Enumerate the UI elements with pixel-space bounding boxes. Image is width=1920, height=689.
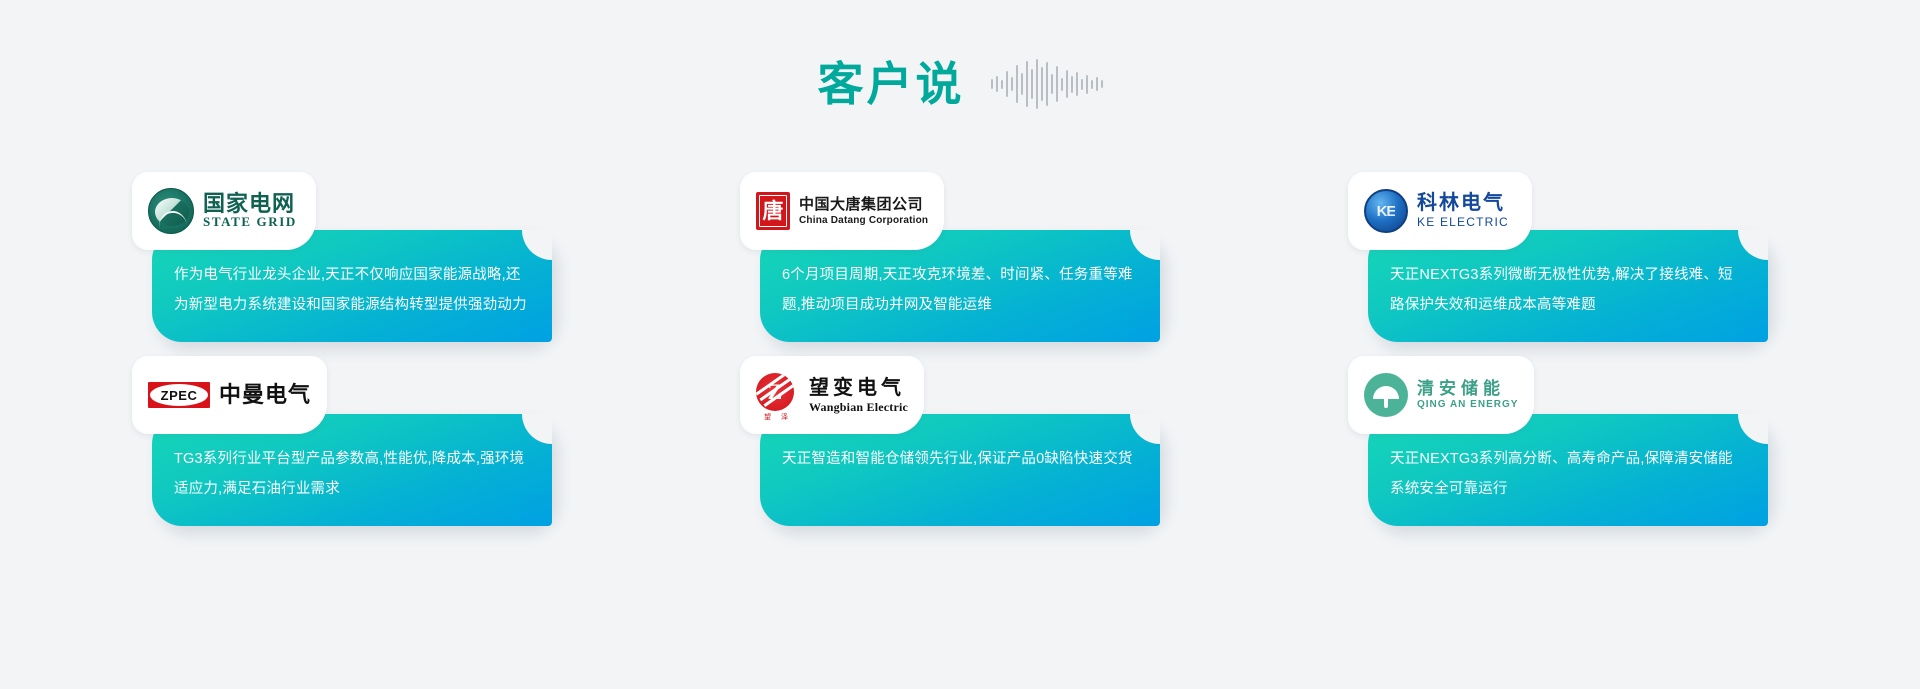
logo-tab: 清安储能 QING AN ENERGY — [1348, 356, 1534, 434]
wangbian-circle-icon: Z 望 泽 — [756, 373, 800, 417]
logo-tab: KE 科林电气 KE ELECTRIC — [1348, 172, 1532, 250]
logo-badge-text: Z — [768, 381, 783, 403]
logo-name-cn: 国家电网 — [203, 192, 297, 215]
logo-name-cn: 中曼电气 — [219, 383, 311, 407]
customer-testimonials-section: 客户说 国家电网 STATE GRID — [0, 0, 1920, 689]
page-title: 客户说 — [818, 61, 965, 107]
logo-name-en: China Datang Corporation — [799, 214, 928, 227]
audio-waveform-icon — [991, 58, 1103, 110]
logo-badge-text: KE — [1377, 203, 1396, 220]
section-heading: 客户说 — [0, 58, 1920, 110]
testimonial-card[interactable]: 中国大唐集团公司 China Datang Corporation 6个月项目周… — [740, 172, 1184, 342]
logo-tab: 中国大唐集团公司 China Datang Corporation — [740, 172, 944, 250]
china-datang-seal-icon — [756, 192, 790, 230]
testimonial-card[interactable]: Z 望 泽 望变电气 Wangbian Electric 天正智造和智能仓储领先… — [740, 356, 1184, 526]
logo-name-en: STATE GRID — [203, 215, 297, 229]
testimonial-card-grid: 国家电网 STATE GRID 作为电气行业龙头企业,天正不仅响应国家能源战略,… — [132, 172, 1792, 526]
logo-tab: Z 望 泽 望变电气 Wangbian Electric — [740, 356, 924, 434]
ke-electric-badge-icon: KE — [1364, 189, 1408, 233]
testimonial-card[interactable]: 清安储能 QING AN ENERGY 天正NEXTG3系列高分断、高寿命产品,… — [1348, 356, 1792, 526]
testimonial-quote: 天正NEXTG3系列微断无极性优势,解决了接线难、短路保护失效和运维成本高等难题 — [1390, 260, 1746, 320]
state-grid-globe-icon — [148, 188, 194, 234]
testimonial-card[interactable]: 国家电网 STATE GRID 作为电气行业龙头企业,天正不仅响应国家能源战略,… — [132, 172, 576, 342]
testimonial-card[interactable]: KE 科林电气 KE ELECTRIC 天正NEXTG3系列微断无极性优势,解决… — [1348, 172, 1792, 342]
logo-name-en: Wangbian Electric — [809, 400, 908, 414]
logo-name-cn: 中国大唐集团公司 — [799, 196, 928, 214]
testimonial-quote: 作为电气行业龙头企业,天正不仅响应国家能源战略,还为新型电力系统建设和国家能源结… — [174, 260, 530, 320]
testimonial-quote: 天正NEXTG3系列高分断、高寿命产品,保障清安储能系统安全可靠运行 — [1390, 444, 1746, 504]
testimonial-card[interactable]: ZPEC 中曼电气 TG3系列行业平台型产品参数高,性能优,降成本,强环境适应力… — [132, 356, 576, 526]
logo-badge-text: ZPEC — [161, 388, 198, 403]
qingan-umbrella-icon — [1364, 373, 1408, 417]
logo-mark-subtext: 望 泽 — [756, 412, 800, 422]
logo-name-en: KE ELECTRIC — [1417, 215, 1509, 229]
logo-tab: ZPEC 中曼电气 — [132, 356, 327, 434]
logo-tab: 国家电网 STATE GRID — [132, 172, 316, 250]
testimonial-quote: 天正智造和智能仓储领先行业,保证产品0缺陷快速交货 — [782, 444, 1138, 474]
zpec-oval-icon: ZPEC — [148, 382, 210, 408]
testimonial-quote: 6个月项目周期,天正攻克环境差、时间紧、任务重等难题,推动项目成功并网及智能运维 — [782, 260, 1138, 320]
logo-name-en: QING AN ENERGY — [1417, 399, 1518, 412]
logo-name-cn: 清安储能 — [1417, 378, 1518, 399]
logo-name-cn: 科林电气 — [1417, 192, 1509, 215]
testimonial-quote: TG3系列行业平台型产品参数高,性能优,降成本,强环境适应力,满足石油行业需求 — [174, 444, 530, 504]
logo-name-cn: 望变电气 — [809, 376, 908, 400]
